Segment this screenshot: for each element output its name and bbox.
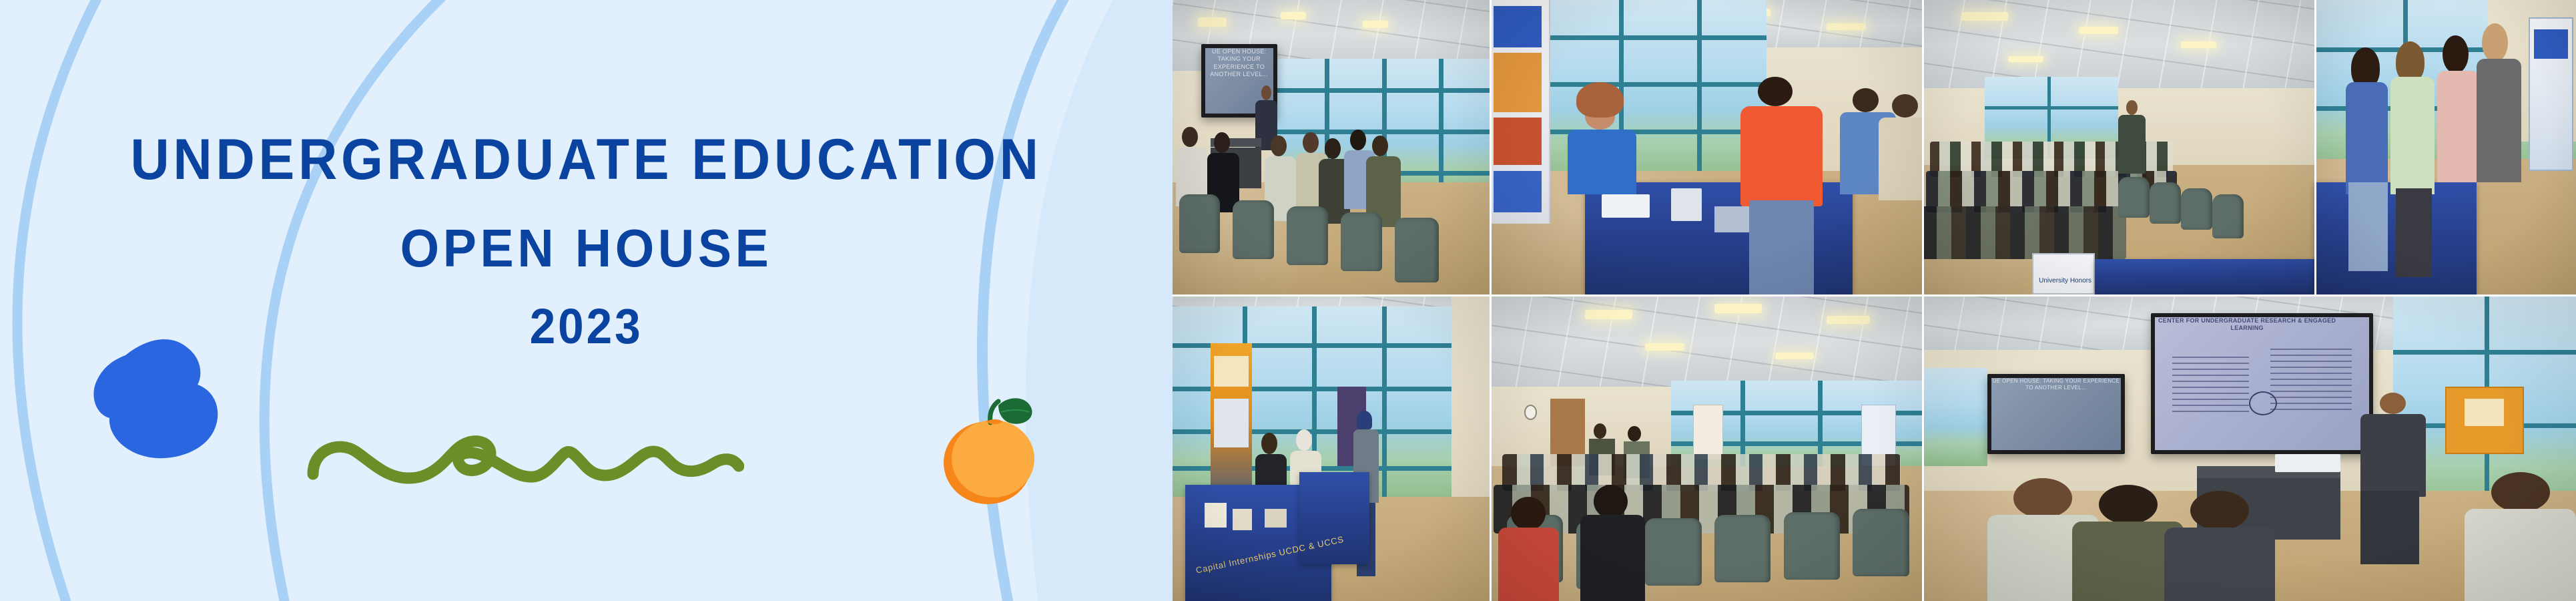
photo-7-screen-title: CENTER FOR UNDERGRADUATE RESEARCH & ENGA… (2155, 317, 2339, 333)
photo-collage: UE OPEN HOUSE: TAKING YOUR EXPERIENCE TO… (1173, 0, 2576, 601)
collage-seam-vertical-1 (1490, 0, 1492, 294)
collage-seam-vertical-3 (2314, 0, 2316, 294)
green-squiggle-icon (304, 414, 744, 494)
arc-line-mid (264, 0, 467, 601)
photo-3-sign-text: University Honors (2036, 277, 2095, 284)
photo-4-students-at-info-table (2314, 0, 2576, 294)
squiggle-path (313, 441, 739, 478)
photo-2-resource-fair-table-blue (1490, 0, 1922, 294)
collage-seam-vertical-5 (1922, 294, 1924, 601)
blob-path (93, 339, 218, 458)
photo-5-capital-internships-table: Capital Internships UCDC & UCCS (1173, 294, 1490, 601)
open-house-banner: UNDERGRADUATE EDUCATION OPEN HOUSE 2023 (0, 0, 2576, 601)
title-panel: UNDERGRADUATE EDUCATION OPEN HOUSE 2023 (0, 0, 1173, 601)
orange-body (952, 420, 1034, 497)
photo-7-secondary-screen-text: UE OPEN HOUSE: TAKING YOUR EXPERIENCE TO… (1991, 378, 2121, 391)
photo-1-lecture-room-presentation: UE OPEN HOUSE: TAKING YOUR EXPERIENCE TO… (1173, 0, 1490, 294)
photo-6-seated-audience-session (1490, 294, 1922, 601)
arc-line-left (17, 0, 110, 601)
background-arcs (0, 0, 1173, 601)
photo-3-4-top-right-pair: University Honors (1922, 0, 2576, 294)
photo-3-auditorium-wide-shot: University Honors (1922, 0, 2314, 294)
blue-blob-icon (85, 327, 226, 464)
photo-7-dual-screen-presentation: UE OPEN HOUSE: TAKING YOUR EXPERIENCE TO… (1922, 294, 2576, 601)
collage-seam-vertical-2 (1922, 0, 1924, 294)
photo-1-screen-caption: UE OPEN HOUSE: TAKING YOUR EXPERIENCE TO… (1205, 48, 1273, 78)
arc-band-right (1026, 0, 1173, 601)
collage-seam-vertical-4 (1490, 294, 1492, 601)
orange-fruit-icon (934, 383, 1044, 510)
collage-seam-horizontal (1173, 294, 2576, 296)
